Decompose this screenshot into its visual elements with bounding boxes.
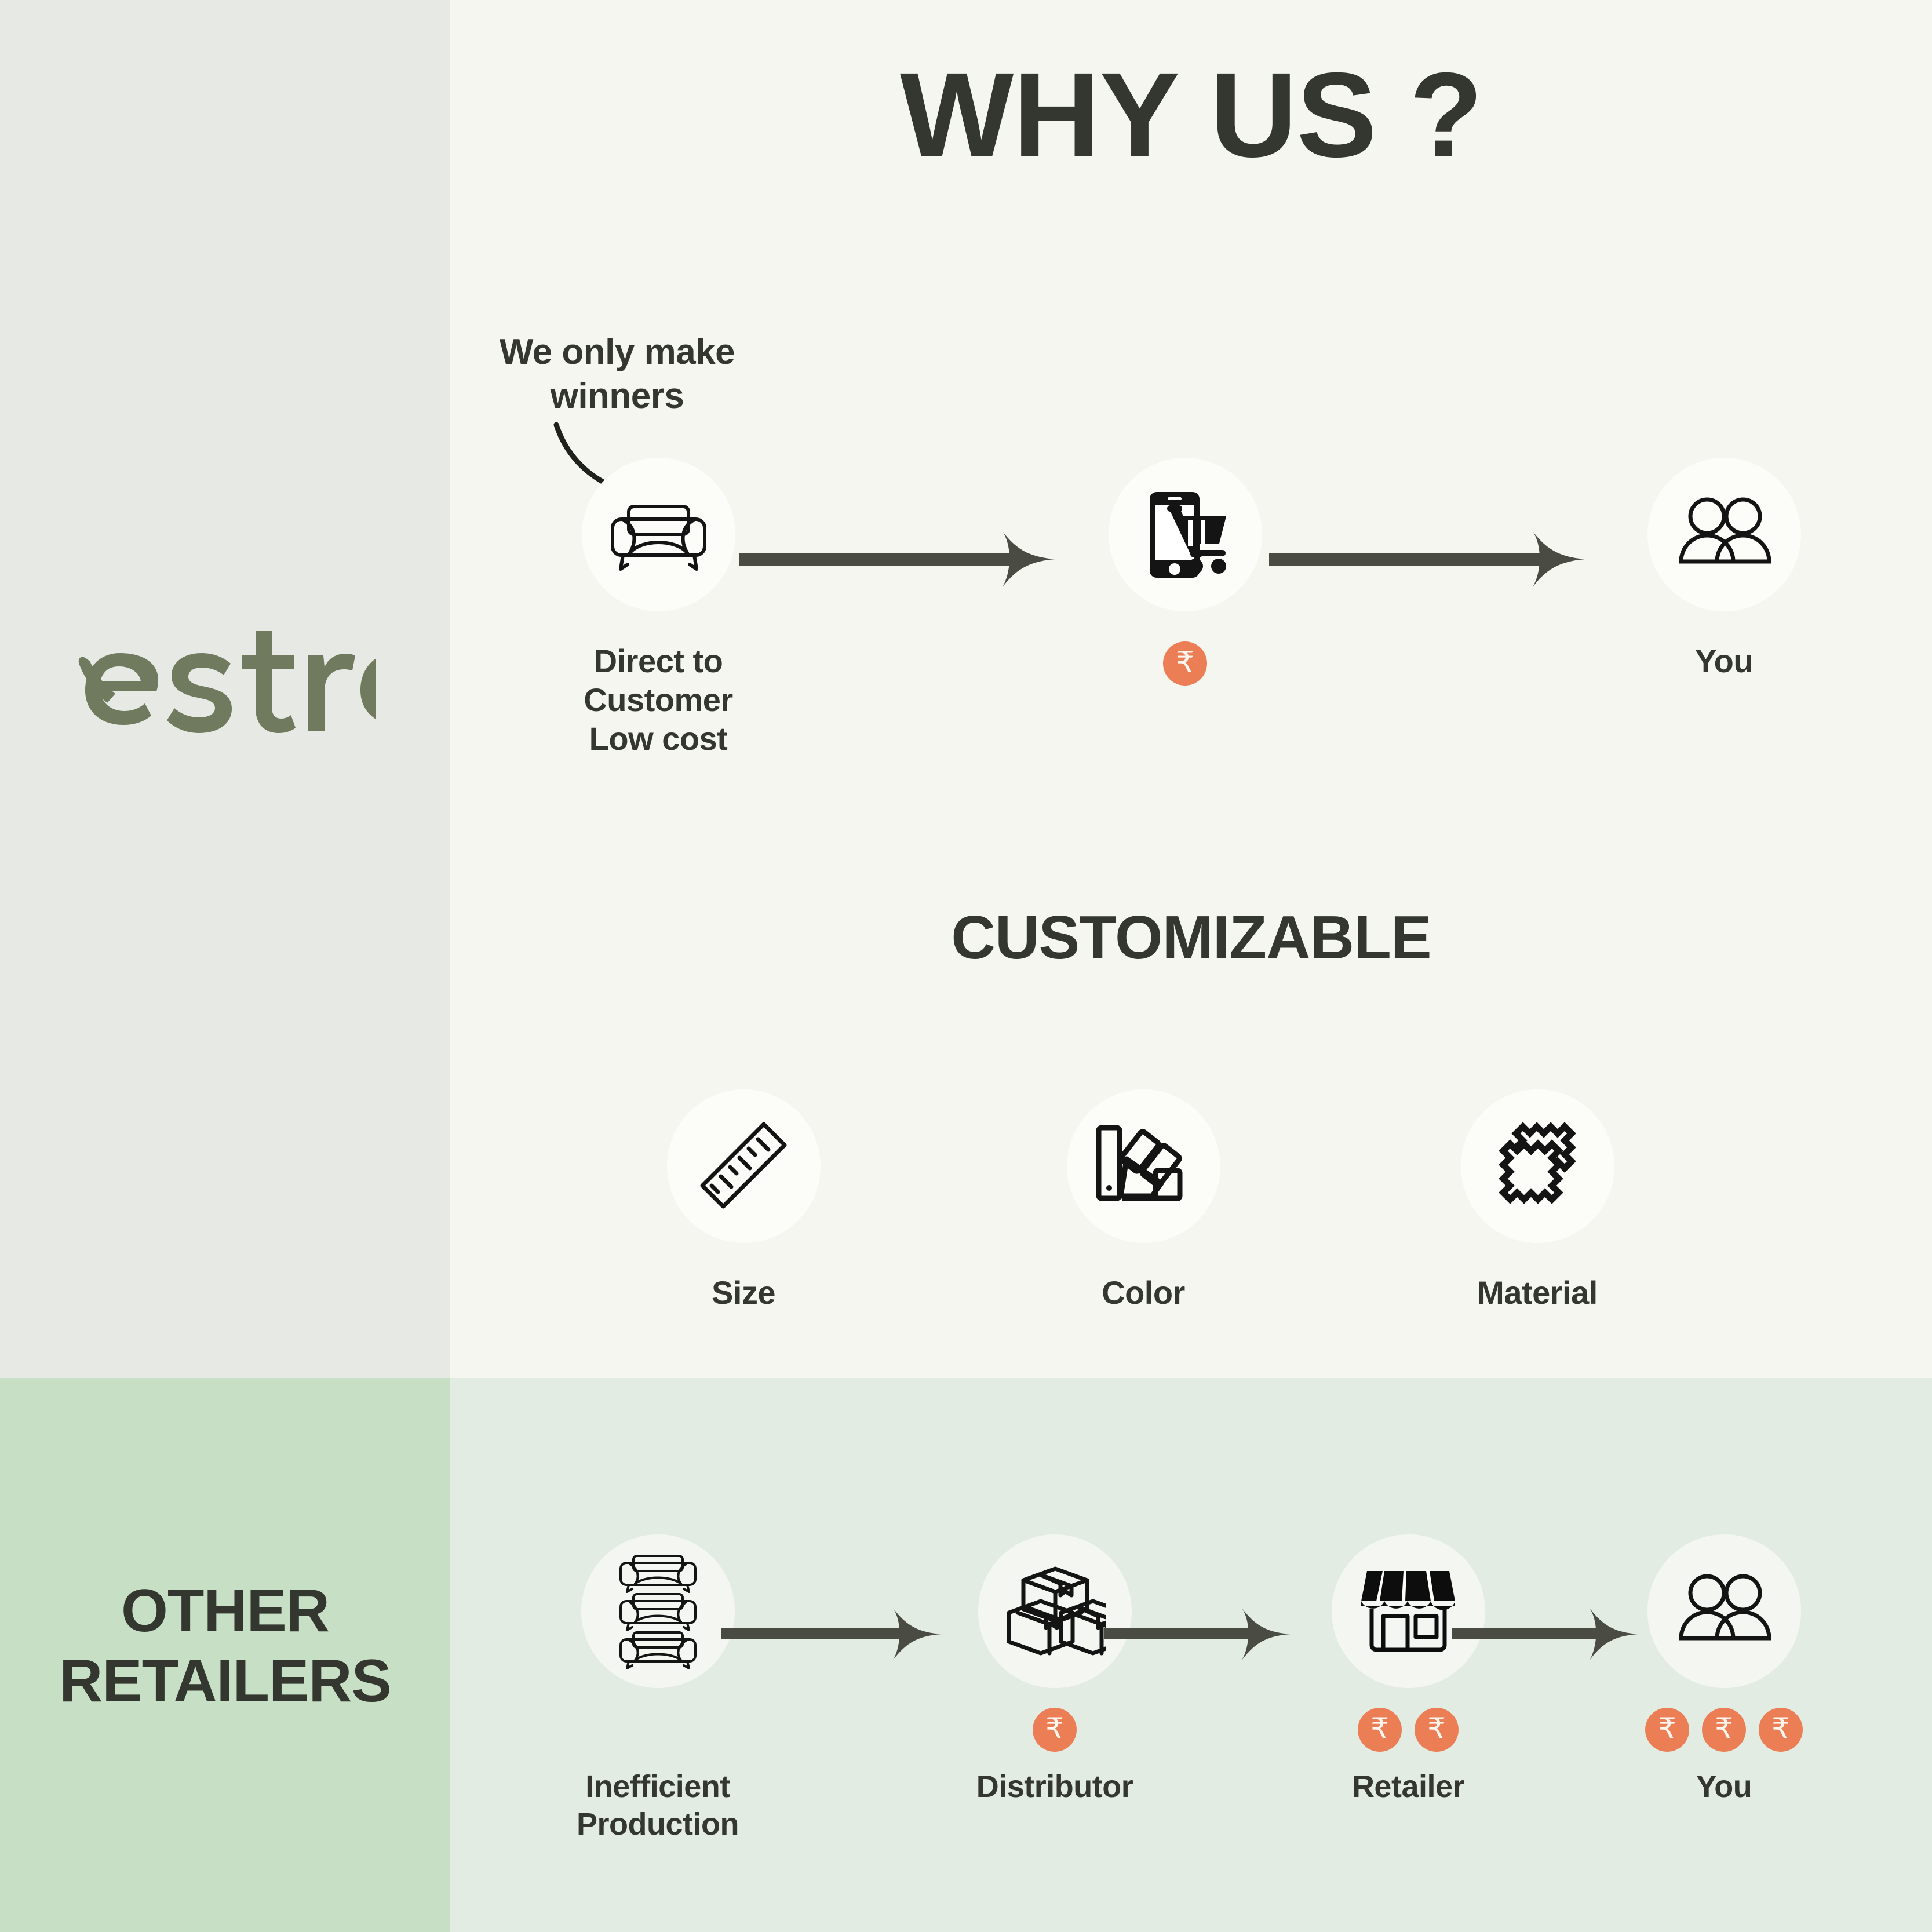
two-people-icon xyxy=(1674,1571,1775,1652)
sofa-icon xyxy=(608,497,709,573)
fabric-swatch-icon xyxy=(1487,1118,1588,1214)
two-people-icon-disc xyxy=(1647,1534,1801,1688)
rupee-coin: ₹ xyxy=(1033,1708,1077,1752)
right-arrow-icon xyxy=(1269,524,1599,594)
stacked-sofas-icon-disc xyxy=(581,1534,735,1688)
flow-node-direct-to-customer: Direct to Customer Low cost xyxy=(542,458,774,759)
customizable-option-size: Size xyxy=(628,1089,859,1312)
rupee-coin: ₹ xyxy=(1358,1708,1402,1752)
stacked-sofas-icon xyxy=(616,1554,700,1669)
flow-node-distributor: ₹ Distributor xyxy=(939,1534,1171,1806)
node-label-distributor: Distributor xyxy=(939,1768,1171,1806)
rupee-coin: ₹ xyxy=(1702,1708,1746,1752)
section-title-customizable: CUSTOMIZABLE xyxy=(450,907,1932,968)
storefront-icon xyxy=(1359,1565,1457,1658)
customizable-option-material: Material xyxy=(1421,1089,1653,1312)
page-title: WHY US ? xyxy=(450,55,1932,176)
mobile-cart-icon xyxy=(1135,484,1236,585)
section-title-other-retailers: OTHER RETAILERS xyxy=(0,1576,450,1716)
right-arrow-icon xyxy=(739,524,1069,594)
boxes-icon xyxy=(1004,1565,1106,1658)
rupee-coin: ₹ xyxy=(1645,1708,1689,1752)
two-people-icon-disc xyxy=(1647,458,1801,611)
flow-node-you-bottom: ₹ ₹ ₹ You xyxy=(1608,1534,1840,1806)
rupee-coin: ₹ xyxy=(1415,1708,1459,1752)
node-label-you-bottom: You xyxy=(1608,1768,1840,1806)
brand-logo xyxy=(0,591,450,777)
customizable-option-color: Color xyxy=(1027,1089,1259,1312)
coin-group-production xyxy=(542,1708,774,1752)
flow-node-inefficient-production: Inefficient Production xyxy=(542,1534,774,1843)
node-label-inefficient-production: Inefficient Production xyxy=(542,1768,774,1843)
color-swatch-icon xyxy=(1094,1123,1193,1210)
flow-node-retailer: ₹ ₹ Retailer xyxy=(1292,1534,1524,1806)
node-label-color: Color xyxy=(1027,1273,1259,1312)
two-people-icon xyxy=(1674,494,1775,575)
right-arrow-icon xyxy=(721,1602,953,1666)
color-swatch-icon-disc xyxy=(1067,1089,1220,1243)
flow-node-you-top: You xyxy=(1608,458,1840,680)
annotation-text: We only make winners xyxy=(452,330,782,418)
node-label-material: Material xyxy=(1421,1273,1653,1312)
other-retailers-line2: RETAILERS xyxy=(0,1646,450,1716)
right-arrow-icon xyxy=(1104,1602,1301,1666)
coin-group-distributor: ₹ xyxy=(939,1708,1171,1752)
ruler-icon-disc xyxy=(667,1089,821,1243)
rupee-coin: ₹ xyxy=(1163,641,1207,686)
rupee-coin: ₹ xyxy=(1759,1708,1803,1752)
mobile-cart-icon-disc xyxy=(1109,458,1262,611)
coin-group-online-store: ₹ xyxy=(1069,641,1301,686)
infographic-canvas: WHY US ? CUSTOMIZABLE OTHER RETAILERS We… xyxy=(0,0,1932,1932)
node-label-direct-to-customer: Direct to Customer Low cost xyxy=(542,641,774,759)
coin-group-you-bottom: ₹ ₹ ₹ xyxy=(1608,1708,1840,1752)
coin-group-retailer: ₹ ₹ xyxy=(1292,1708,1524,1752)
fabric-swatch-icon-disc xyxy=(1461,1089,1614,1243)
other-retailers-line1: OTHER xyxy=(0,1576,450,1646)
sofa-icon-disc xyxy=(582,458,735,611)
node-label-retailer: Retailer xyxy=(1292,1768,1524,1806)
node-label-size: Size xyxy=(628,1273,859,1312)
node-label-you-top: You xyxy=(1608,641,1840,680)
flow-node-online-store: ₹ xyxy=(1069,458,1301,686)
ruler-icon xyxy=(694,1117,793,1216)
